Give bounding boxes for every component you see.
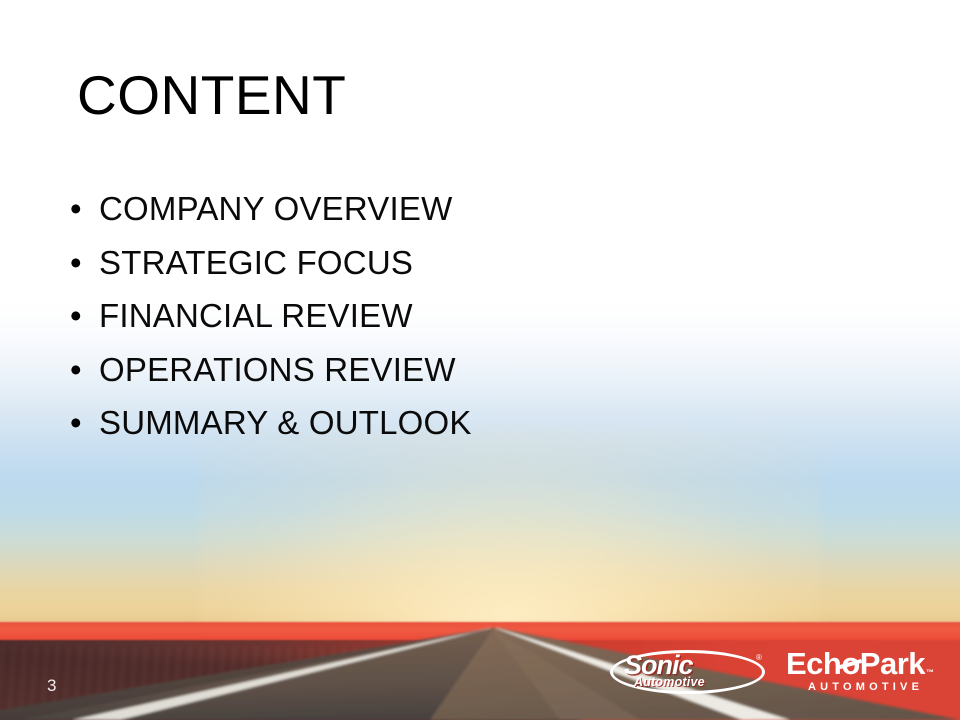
list-item: • COMPANY OVERVIEW (70, 192, 472, 246)
trademark-icon: ™ (926, 669, 934, 679)
list-item: • STRATEGIC FOCUS (70, 246, 472, 300)
sonic-automotive-logo: Sonic Automotive ® (610, 647, 770, 699)
list-item: • SUMMARY & OUTLOOK (70, 406, 472, 460)
list-item: • OPERATIONS REVIEW (70, 353, 472, 407)
bullet-marker-icon: • (70, 299, 99, 332)
list-item-label: FINANCIAL REVIEW (99, 299, 413, 332)
logo-bar: Sonic Automotive ® Ech o Park ™ AUTOMOTI… (600, 640, 960, 720)
echopark-subtitle: AUTOMOTIVE (808, 682, 923, 693)
list-item: • FINANCIAL REVIEW (70, 299, 472, 353)
sonic-subtitle: Automotive (634, 676, 705, 689)
list-item-label: COMPANY OVERVIEW (99, 192, 452, 225)
echopark-automotive-logo: Ech o Park ™ AUTOMOTIVE (786, 648, 956, 700)
list-item-label: STRATEGIC FOCUS (99, 246, 413, 279)
echopark-word-part1: Ech (786, 648, 841, 679)
echopark-slashed-o-icon: o (841, 648, 859, 679)
echopark-wordmark: Ech o Park ™ (786, 648, 934, 679)
slide-page-number: 3 (47, 676, 56, 696)
page-title: CONTENT (77, 68, 346, 123)
registered-trademark-icon: ® (756, 653, 762, 662)
bullet-marker-icon: • (70, 246, 99, 279)
content-bullet-list: • COMPANY OVERVIEW • STRATEGIC FOCUS • F… (70, 192, 472, 460)
bullet-marker-icon: • (70, 406, 99, 439)
bullet-marker-icon: • (70, 192, 99, 225)
bullet-marker-icon: • (70, 353, 99, 386)
echopark-word-part3: Park (860, 648, 925, 679)
list-item-label: OPERATIONS REVIEW (99, 353, 456, 386)
sun-glow (200, 430, 820, 630)
list-item-label: SUMMARY & OUTLOOK (99, 406, 472, 439)
presentation-slide: CONTENT • COMPANY OVERVIEW • STRATEGIC F… (0, 0, 960, 720)
